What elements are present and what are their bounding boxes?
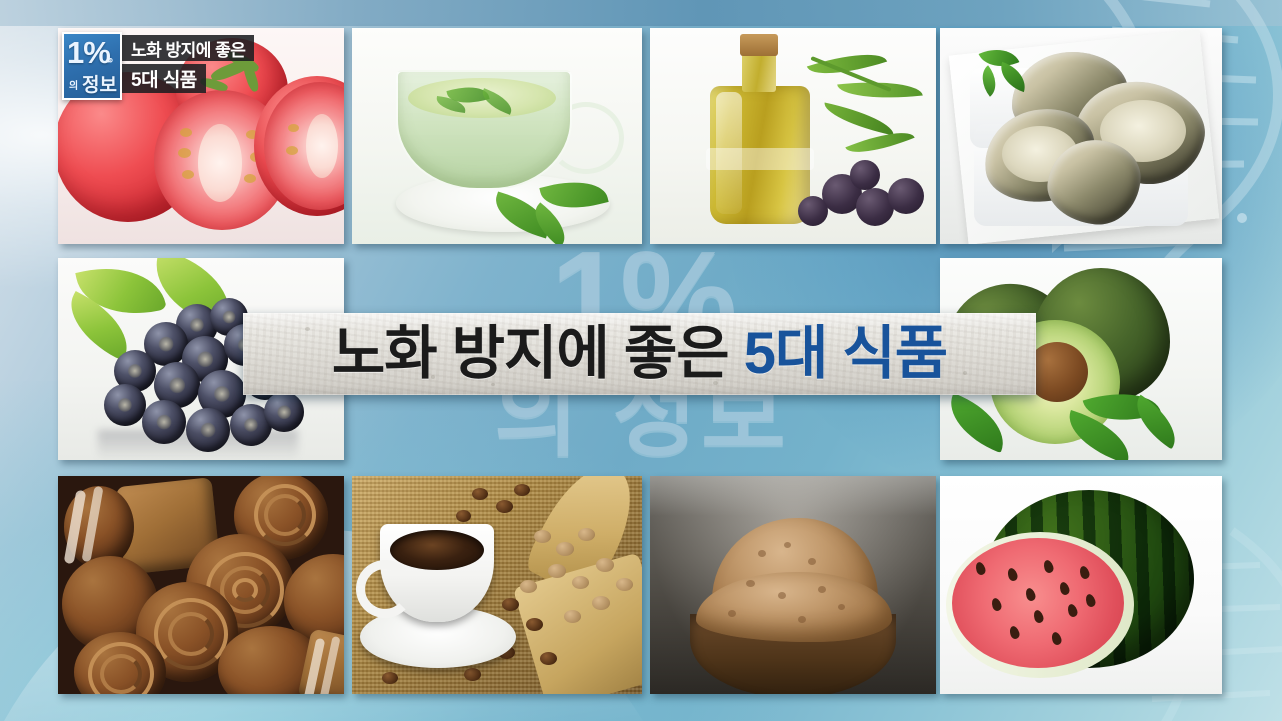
food-cell-chocolate[interactable] [58,476,344,694]
header-line-1: 노화 방지에 좋은 [122,35,254,61]
oysters-photo [940,28,1222,244]
green-tea-photo [352,28,642,244]
soy-paste-photo [650,476,936,694]
logo-sub-small-text: 의 [69,82,78,92]
chocolate-photo [58,476,344,694]
title-main-text: 노화 방지에 좋은 [332,321,744,386]
program-logo-badge: 1% ⚭ 의 정보 [62,32,122,100]
food-cell-watermelon[interactable] [940,476,1222,694]
food-cell-green-tea[interactable] [352,28,642,244]
food-cell-oysters[interactable] [940,28,1222,244]
title-accent-text: 5대 식품 [744,321,947,386]
food-cell-coffee[interactable] [352,476,642,694]
logo-sub-text: 정보 [82,76,117,95]
olive-oil-photo [650,28,936,244]
watermelon-photo [940,476,1222,694]
page-title: 노화 방지에 좋은 5대 식품 [332,325,947,383]
food-cell-olive-oil[interactable] [650,28,936,244]
pin-icon: ⚭ [104,54,115,67]
broadcast-screen: 1% 의 정보 [0,0,1282,721]
title-banner: 노화 방지에 좋은 5대 식품 [243,313,1036,395]
food-cell-soy-paste[interactable] [650,476,936,694]
coffee-photo [352,476,642,694]
header-line-2: 5대 식품 [122,64,206,93]
